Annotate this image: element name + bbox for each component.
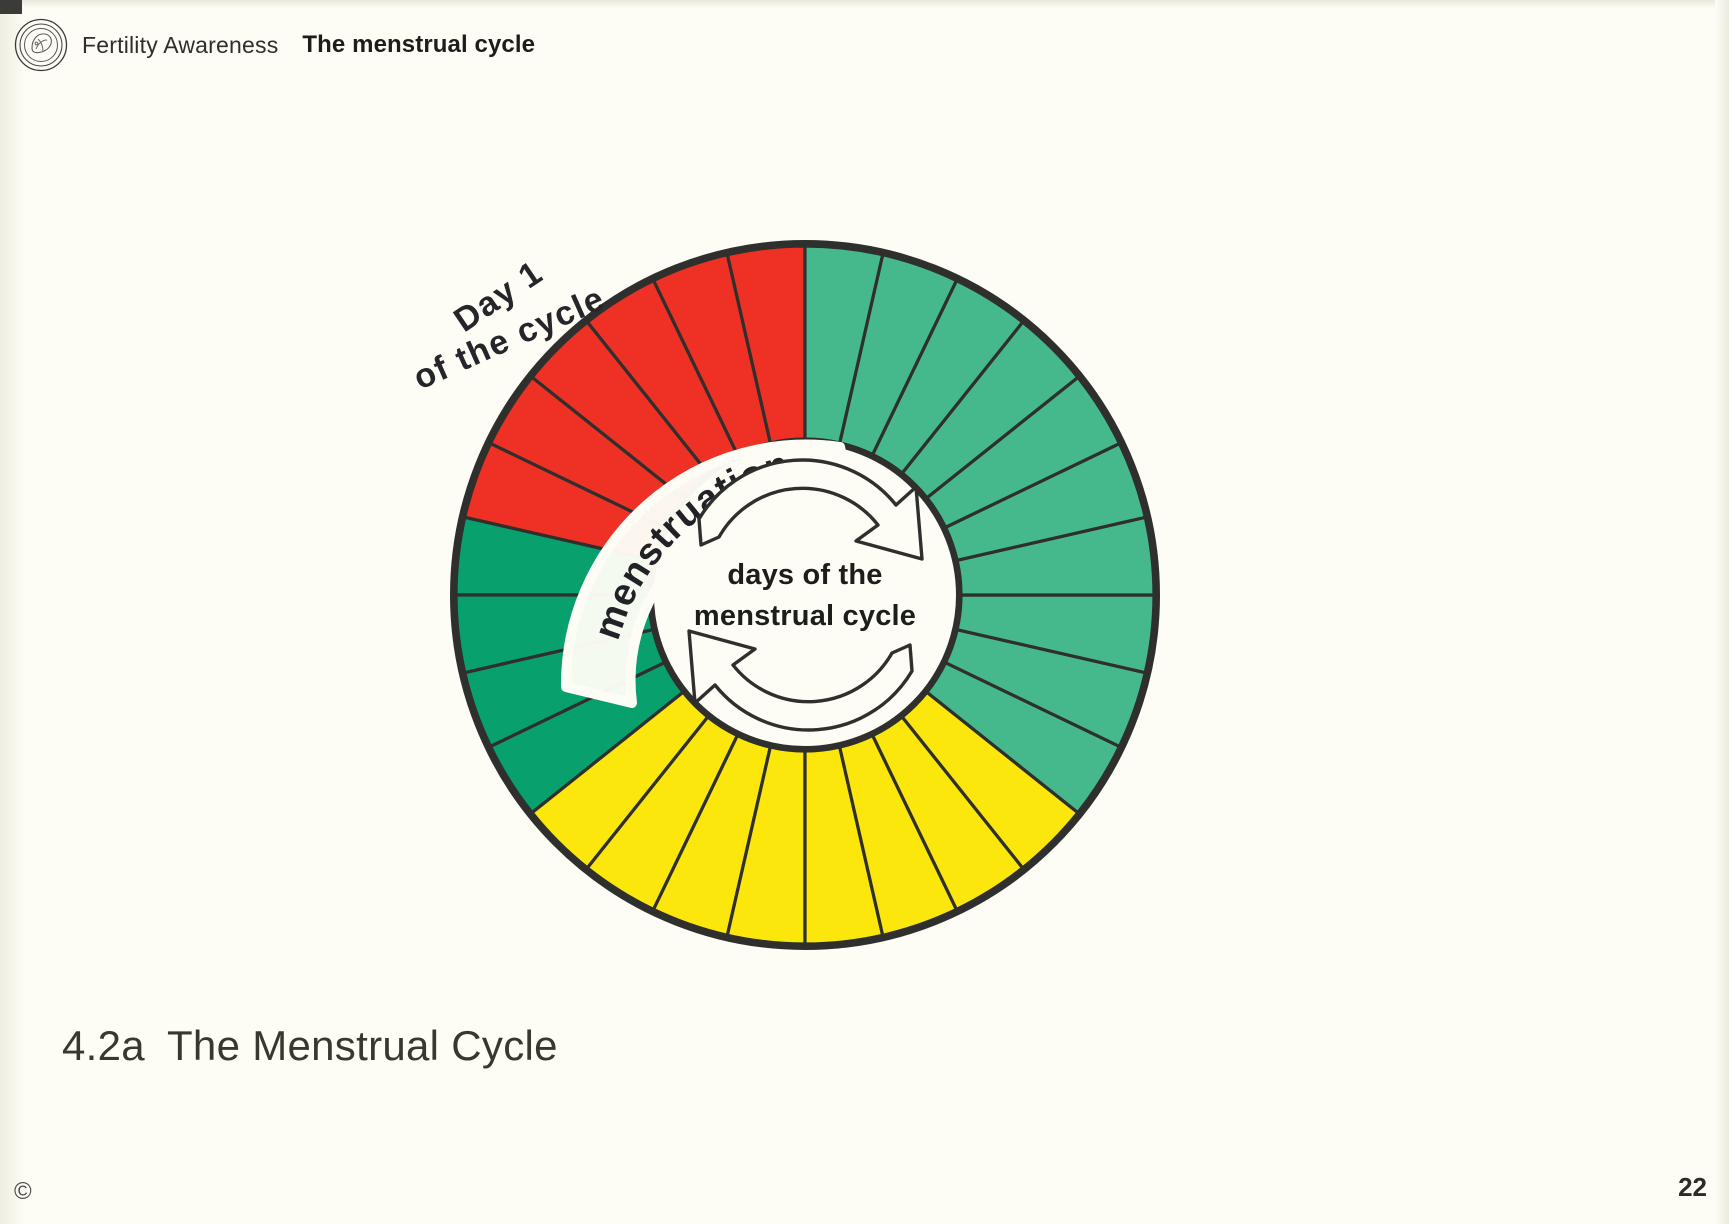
copyright-symbol: © [14,1178,32,1206]
page-number: 22 [1678,1172,1707,1203]
figure-caption: 4.2aThe Menstrual Cycle [62,1022,558,1070]
figure-number: 4.2a [62,1022,145,1069]
cycle-wheel-chart: Day 1 of the cycle menstruation [410,215,1210,995]
figure-caption-text: The Menstrual Cycle [167,1022,558,1069]
